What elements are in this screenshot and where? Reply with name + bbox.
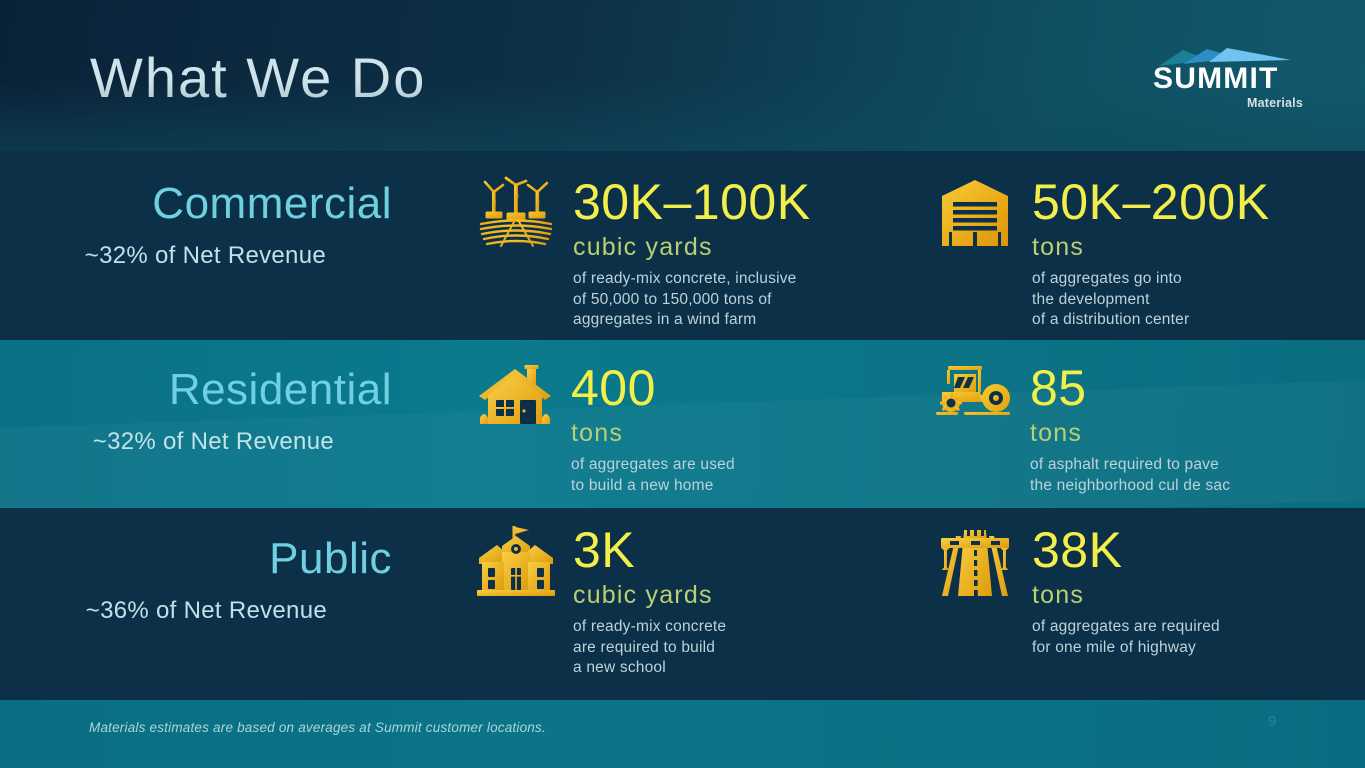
stat-value: 38K [1032,526,1220,575]
stat-unit: cubic yards [573,581,726,610]
stat-description: of ready-mix concrete are required to bu… [573,617,726,679]
road-roller-icon [934,362,1014,424]
stat-text: 400 tons of aggregates are used to build… [571,362,735,496]
stat-block: 30K–100K cubic yards of ready-mix concre… [475,176,811,331]
category-label-group: Residential ~32% of Net Revenue [0,368,460,456]
stat-unit: tons [1032,581,1220,610]
stat-description: of aggregates are required for one mile … [1032,617,1220,659]
stat-unit: tons [1030,419,1230,448]
stat-block: 85 tons of asphalt required to pave the … [934,362,1230,496]
stat-text: 3K cubic yards of ready-mix concrete are… [573,524,726,679]
category-name: Residential [0,368,460,412]
logo-subtitle: Materials [1247,96,1303,110]
category-label-group: Commercial ~32% of Net Revenue [0,182,460,270]
stat-value: 3K [573,526,726,575]
warehouse-icon [934,176,1016,254]
stat-block: 38K tons of aggregates are required for … [934,524,1220,658]
summit-materials-logo: SUMMIT Materials [1153,44,1303,116]
stat-unit: cubic yards [573,233,811,262]
stat-unit: tons [1032,233,1270,262]
stat-block: 50K–200K tons of aggregates go into the … [934,176,1270,331]
category-name: Public [0,537,460,581]
stat-description: of aggregates are used to build a new ho… [571,455,735,497]
wind-farm-icon [475,176,557,254]
stat-unit: tons [571,419,735,448]
stat-description: of aggregates go into the development of… [1032,269,1270,331]
house-icon [475,362,555,434]
stat-text: 38K tons of aggregates are required for … [1032,524,1220,658]
slide-header: What We Do SUMMIT Materials [0,0,1365,151]
slide: What We Do SUMMIT Materials Commercial ~… [0,0,1365,768]
stat-block: 3K cubic yards of ready-mix concrete are… [475,524,726,679]
stat-text: 50K–200K tons of aggregates go into the … [1032,176,1270,331]
category-name: Commercial [0,182,460,226]
stat-text: 85 tons of asphalt required to pave the … [1030,362,1230,496]
stat-text: 30K–100K cubic yards of ready-mix concre… [573,176,811,331]
school-icon [475,524,557,600]
slide-footer: Materials estimates are based on average… [0,700,1365,768]
logo-wordmark: SUMMIT [1153,64,1303,94]
stat-value: 85 [1030,364,1230,413]
category-revenue-share: ~32% of Net Revenue [0,428,460,456]
highway-icon [934,524,1016,600]
footnote-text: Materials estimates are based on average… [89,720,546,735]
page-number: 9 [1268,713,1277,730]
stat-value: 30K–100K [573,178,811,227]
stat-description: of asphalt required to pave the neighbor… [1030,455,1230,497]
category-label-group: Public ~36% of Net Revenue [0,537,460,625]
category-revenue-share: ~32% of Net Revenue [0,242,460,270]
page-title: What We Do [90,50,426,106]
stat-value: 400 [571,364,735,413]
stat-value: 50K–200K [1032,178,1270,227]
stat-block: 400 tons of aggregates are used to build… [475,362,735,496]
stat-description: of ready-mix concrete, inclusive of 50,0… [573,269,811,331]
category-revenue-share: ~36% of Net Revenue [0,597,460,625]
